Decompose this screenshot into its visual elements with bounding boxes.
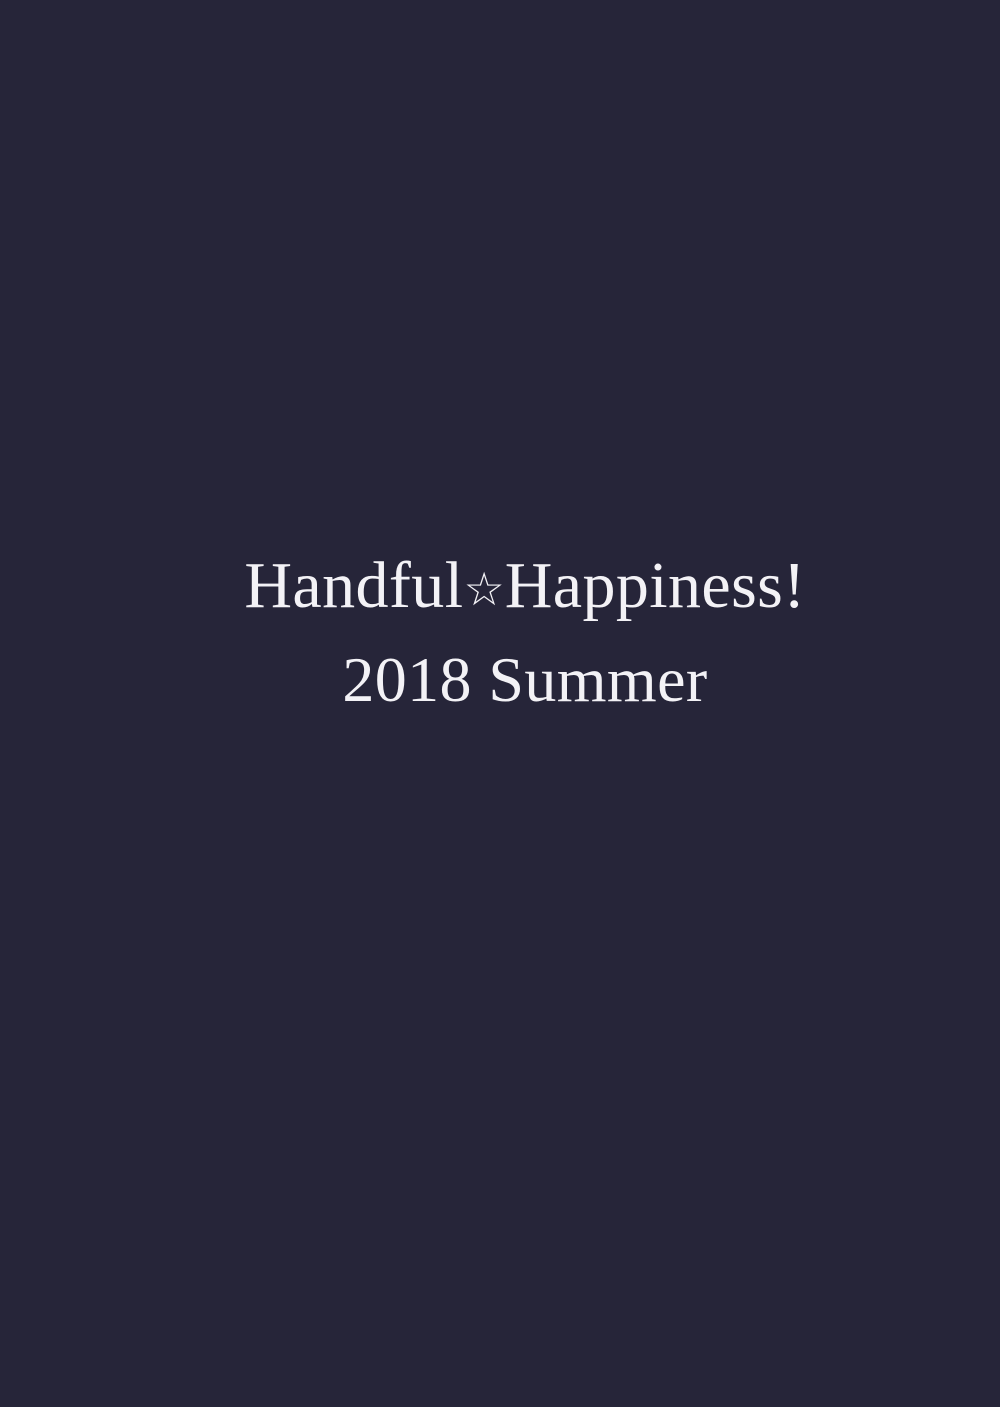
release-season-label: 2018 Summer — [0, 647, 1000, 713]
circle-name-suffix: Happiness! — [505, 549, 806, 622]
colophon-page: Handful☆Happiness! 2018 Summer — [0, 0, 1000, 1407]
open-star-icon: ☆ — [463, 562, 504, 616]
circle-name-prefix: Handful — [244, 549, 463, 622]
credit-block: Handful☆Happiness! 2018 Summer — [0, 0, 1000, 713]
circle-name-title: Handful☆Happiness! — [0, 552, 1000, 620]
